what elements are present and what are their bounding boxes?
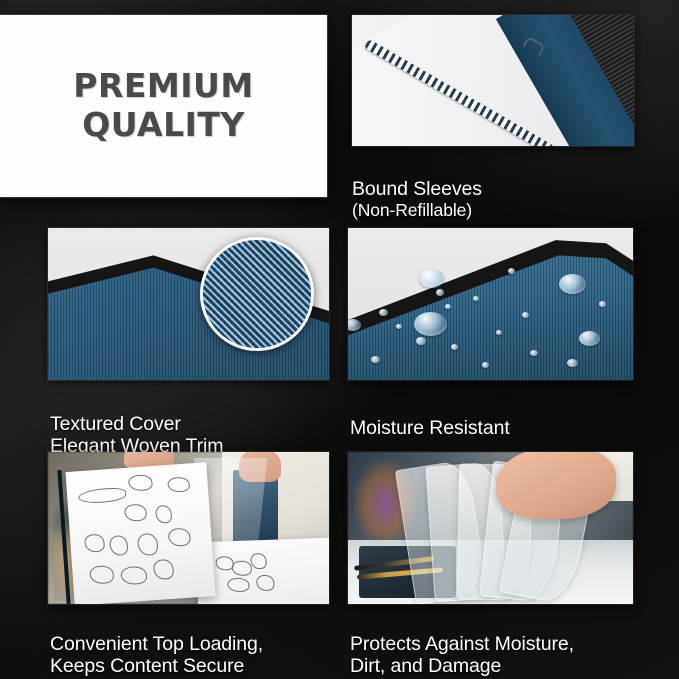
top-loading-caption: Convenient Top Loading, Keeps Content Se… — [50, 610, 350, 679]
water-droplet — [508, 268, 515, 274]
sketch-mark — [250, 553, 267, 570]
water-droplet — [559, 274, 586, 294]
sketch-mark — [138, 533, 159, 556]
sketch-mark — [125, 504, 148, 522]
weave-magnifier-circle — [200, 237, 314, 351]
main-sketch-sheet — [66, 462, 215, 604]
sketch-mark — [169, 528, 192, 547]
water-droplet — [599, 301, 606, 307]
water-droplet — [496, 330, 502, 335]
textured-cover-image — [48, 228, 329, 380]
water-droplet — [379, 309, 388, 316]
caption-line-2: Keeps Content Secure — [50, 655, 350, 678]
water-droplet — [451, 344, 458, 350]
top-loading-image — [48, 452, 329, 604]
premium-quality-text: PREMIUM QUALITY — [73, 67, 253, 145]
caption-line-1: Textured Cover — [50, 413, 181, 435]
caption-line-1: Moisture Resistant — [350, 417, 510, 439]
water-droplet — [445, 304, 451, 309]
sketch-mark — [128, 474, 153, 492]
bound-sleeves-image — [352, 15, 634, 146]
infographic-canvas: PREMIUM QUALITY Bound Sleeves (Non-Refil… — [0, 0, 679, 679]
lower-sketch-sheet — [196, 538, 329, 604]
caption-line-2: (Non-Refillable) — [352, 200, 652, 220]
caption-line-1: Bound Sleeves — [352, 178, 482, 200]
sketch-mark — [121, 566, 148, 586]
hero-line-1: PREMIUM — [73, 67, 253, 106]
sketch-mark — [78, 487, 127, 504]
sketch-mark — [90, 565, 115, 585]
moisture-resistant-image — [348, 228, 633, 380]
moisture-resistant-caption: Moisture Resistant — [350, 394, 650, 439]
sketch-mark — [156, 505, 173, 524]
sketch-mark — [256, 575, 275, 592]
hero-line-2: QUALITY — [73, 106, 253, 145]
water-droplet — [530, 350, 538, 356]
sketch-mark — [84, 534, 105, 553]
water-droplet — [482, 362, 489, 368]
protects-caption: Protects Against Moisture, Dirt, and Dam… — [350, 610, 660, 679]
sketch-mark — [227, 577, 249, 592]
protects-image — [348, 452, 633, 604]
caption-line-1: Convenient Top Loading, — [50, 633, 263, 655]
premium-quality-badge: PREMIUM QUALITY — [0, 15, 327, 197]
water-droplet — [371, 356, 380, 363]
sketch-mark — [232, 561, 253, 577]
sketch-mark — [154, 559, 175, 580]
sketch-mark — [110, 535, 129, 556]
water-droplet — [414, 312, 447, 336]
hand-lifting-sleeve — [496, 452, 616, 519]
caption-line-2: Dirt, and Damage — [350, 655, 660, 678]
caption-line-1: Protects Against Moisture, — [350, 633, 574, 655]
sketch-mark — [168, 477, 191, 493]
water-droplet — [522, 312, 529, 318]
